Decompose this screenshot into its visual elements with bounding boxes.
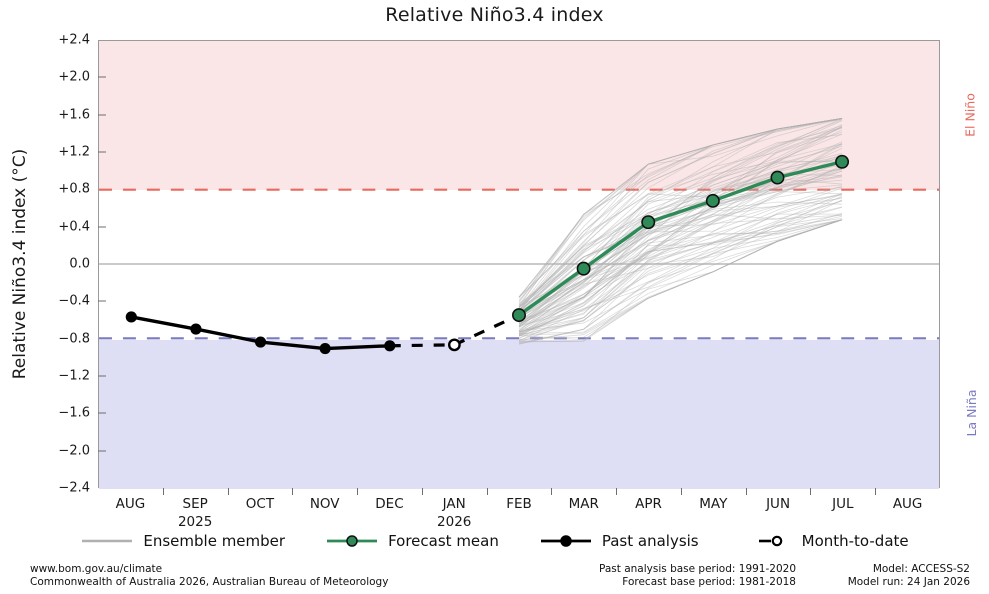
y-axis-tick-label: −2.4 bbox=[30, 481, 90, 496]
past-analysis-marker[interactable] bbox=[384, 340, 395, 351]
forecast-mean-marker[interactable] bbox=[707, 195, 719, 207]
ensemble-members bbox=[519, 118, 842, 344]
y-axis-tick-label: +1.6 bbox=[30, 107, 90, 122]
footer-site: www.bom.gov.au/climate bbox=[30, 563, 388, 576]
x-axis-tick-label: JAN bbox=[443, 496, 466, 512]
x-axis-tick-label: MAR bbox=[569, 496, 599, 512]
x-axis-tick-mark bbox=[292, 488, 293, 495]
legend-item[interactable]: Ensemble member bbox=[80, 532, 285, 550]
x-axis-tick-label: FEB bbox=[506, 496, 532, 512]
y-axis-tick-mark bbox=[98, 376, 106, 377]
month-to-date-marker[interactable] bbox=[449, 340, 459, 350]
y-axis-tick-mark bbox=[98, 77, 106, 78]
legend-item[interactable]: Forecast mean bbox=[325, 532, 499, 550]
x-axis-tick-mark bbox=[487, 488, 488, 495]
footer-past-base-period: Past analysis base period: 1991-2020 bbox=[586, 563, 796, 576]
footer-copyright: Commonwealth of Australia 2026, Australi… bbox=[30, 576, 388, 589]
x-axis-tick-label: MAY bbox=[699, 496, 727, 512]
plot-area bbox=[98, 40, 940, 488]
x-axis-tick-label: AUG bbox=[893, 496, 923, 512]
el-nino-side-label: El Niño bbox=[962, 93, 977, 137]
chart-canvas bbox=[99, 41, 939, 487]
legend-marker bbox=[772, 537, 780, 545]
y-axis-tick-label: +1.2 bbox=[30, 145, 90, 160]
la-nina-side-label: La Niña bbox=[964, 390, 979, 437]
footer-model-run: Model run: 24 Jan 2026 bbox=[820, 576, 970, 589]
page-title: Relative Niño3.4 index bbox=[0, 4, 989, 26]
x-axis-tick-label: DEC bbox=[375, 496, 403, 512]
legend-item-label: Month-to-date bbox=[802, 532, 909, 550]
y-axis-tick-mark bbox=[98, 114, 106, 115]
past-analysis-marker[interactable] bbox=[255, 336, 266, 347]
forecast-mean-marker[interactable] bbox=[513, 309, 525, 321]
forecast-mean-marker[interactable] bbox=[836, 156, 848, 168]
y-axis-tick-label: −0.4 bbox=[30, 294, 90, 309]
chart-footer: www.bom.gov.au/climate Commonwealth of A… bbox=[0, 562, 989, 594]
y-axis-tick-mark bbox=[98, 226, 106, 227]
y-axis-tick-mark bbox=[98, 450, 106, 451]
footer-model: Model: ACCESS-S2 bbox=[820, 563, 970, 576]
mtd-to-forecast-dashed-link bbox=[454, 315, 519, 345]
forecast-mean-marker[interactable] bbox=[642, 216, 654, 228]
past-analysis-marker[interactable] bbox=[190, 323, 201, 334]
forecast-mean-marker[interactable] bbox=[577, 262, 589, 274]
legend-marker bbox=[347, 536, 357, 546]
y-axis-tick-mark bbox=[98, 413, 106, 414]
chart-page: Relative Niño3.4 index Relative Niño3.4 … bbox=[0, 0, 989, 594]
x-axis-tick-mark bbox=[357, 488, 358, 495]
footer-base-periods: Past analysis base period: 1991-2020 For… bbox=[586, 563, 796, 589]
y-axis-tick-mark bbox=[98, 152, 106, 153]
line-marker-green-icon bbox=[325, 533, 379, 549]
y-axis-title: Relative Niño3.4 index (°C) bbox=[10, 40, 32, 488]
legend-item[interactable]: Month-to-date bbox=[739, 532, 909, 550]
chart-legend: Ensemble memberForecast meanPast analysi… bbox=[0, 528, 989, 554]
legend-item[interactable]: Past analysis bbox=[539, 532, 699, 550]
past-to-mtd-dashed-link bbox=[390, 345, 455, 346]
x-axis-tick-label: JUL bbox=[832, 496, 853, 512]
line-marker-black-icon bbox=[539, 533, 593, 549]
y-axis-tick-label: −2.0 bbox=[30, 443, 90, 458]
x-axis-tick-mark bbox=[681, 488, 682, 495]
x-axis-tick-label: OCT bbox=[246, 496, 274, 512]
dash-open-circle-icon bbox=[739, 533, 793, 549]
y-axis-tick-label: +2.0 bbox=[30, 70, 90, 85]
y-axis-tick-label: +0.8 bbox=[30, 182, 90, 197]
x-axis-tick-mark bbox=[163, 488, 164, 495]
forecast-mean-marker[interactable] bbox=[771, 171, 783, 183]
x-axis-tick-mark bbox=[875, 488, 876, 495]
legend-item-label: Ensemble member bbox=[143, 532, 285, 550]
legend-marker bbox=[561, 536, 571, 546]
y-axis-tick-label: 0.0 bbox=[30, 257, 90, 272]
footer-forecast-base-period: Forecast base period: 1981-2018 bbox=[586, 576, 796, 589]
line-gray-icon bbox=[80, 533, 134, 549]
y-axis-tick-label: −1.6 bbox=[30, 406, 90, 421]
past-analysis-marker[interactable] bbox=[320, 343, 331, 354]
x-axis-tick-mark bbox=[228, 488, 229, 495]
y-axis-tick-label: −1.2 bbox=[30, 369, 90, 384]
legend-item-label: Past analysis bbox=[602, 532, 699, 550]
x-axis-tick-label: JUN bbox=[766, 496, 790, 512]
footer-model-info: Model: ACCESS-S2 Model run: 24 Jan 2026 bbox=[820, 563, 970, 589]
x-axis-tick-label: NOV bbox=[310, 496, 340, 512]
x-axis-tick-mark bbox=[551, 488, 552, 495]
past-analysis-marker[interactable] bbox=[126, 311, 137, 322]
y-axis-tick-mark bbox=[98, 301, 106, 302]
x-axis-tick-label: SEP bbox=[183, 496, 208, 512]
x-axis-tick-mark bbox=[422, 488, 423, 495]
y-axis-tick-label: +2.4 bbox=[30, 33, 90, 48]
x-axis-tick-mark bbox=[616, 488, 617, 495]
legend-item-label: Forecast mean bbox=[388, 532, 499, 550]
y-axis-tick-label: +0.4 bbox=[30, 219, 90, 234]
y-axis-tick-label: −0.8 bbox=[30, 331, 90, 346]
x-axis-tick-mark bbox=[746, 488, 747, 495]
x-axis-tick-label: APR bbox=[635, 496, 662, 512]
footer-attribution: www.bom.gov.au/climate Commonwealth of A… bbox=[30, 563, 388, 589]
x-axis-tick-mark bbox=[810, 488, 811, 495]
x-axis-tick-label: AUG bbox=[116, 496, 146, 512]
